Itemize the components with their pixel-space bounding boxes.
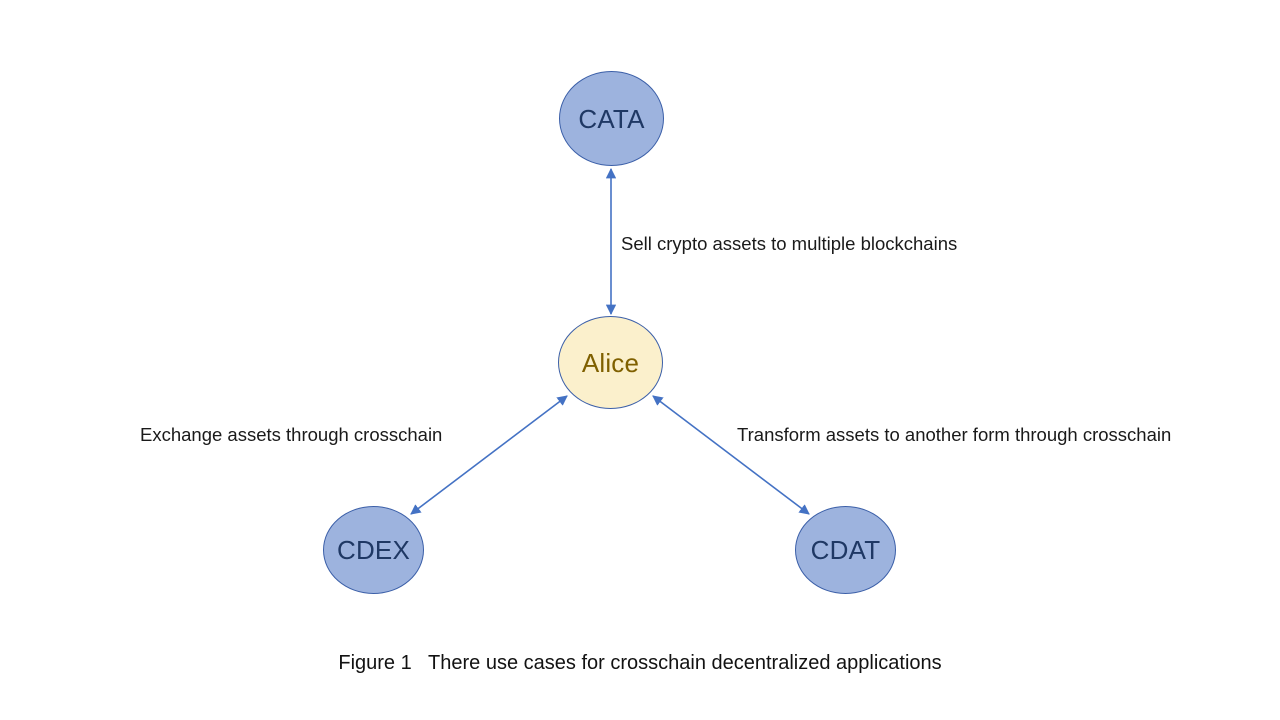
node-cdex[interactable]: CDEX [323,506,424,594]
node-cdex-label: CDEX [337,537,410,563]
node-cdat-label: CDAT [811,537,881,563]
figure-canvas: CATA Alice CDEX CDAT Sell crypto assets … [0,0,1280,720]
node-cata-label: CATA [578,106,644,132]
node-cata[interactable]: CATA [559,71,664,166]
node-alice-label: Alice [582,350,639,376]
figure-caption: Figure 1 There use cases for crosschain … [0,653,1280,673]
edge-label-alice-cdex: Exchange assets through crosschain [140,426,442,445]
node-cdat[interactable]: CDAT [795,506,896,594]
edge-alice-cdat [653,396,809,514]
edge-label-alice-cdat: Transform assets to another form through… [737,426,1171,445]
node-alice[interactable]: Alice [558,316,663,409]
edge-label-alice-cata: Sell crypto assets to multiple blockchai… [621,235,957,254]
edge-alice-cdex [411,396,567,514]
